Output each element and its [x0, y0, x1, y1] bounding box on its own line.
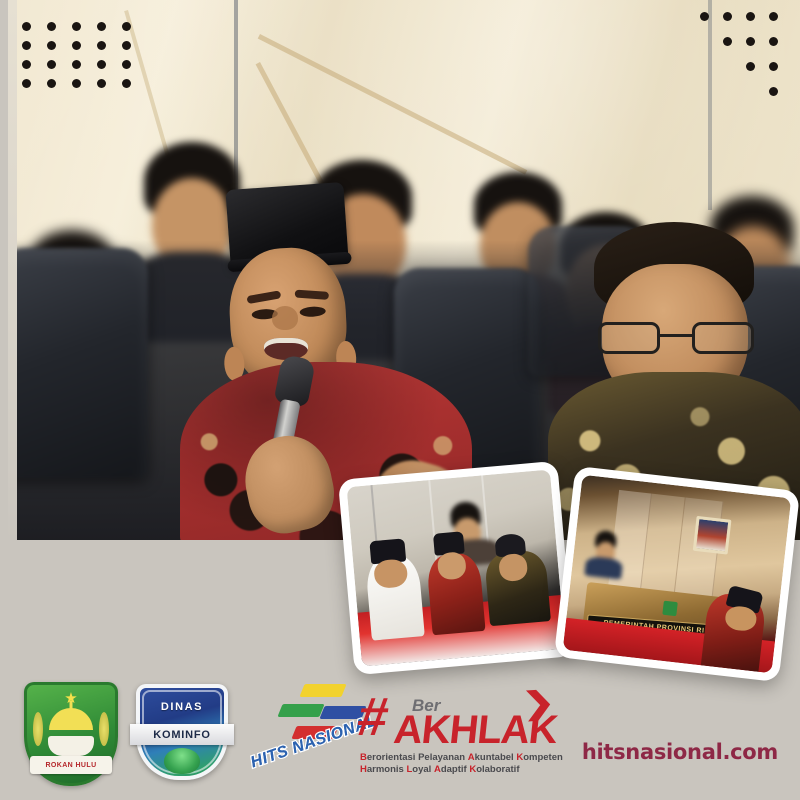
decor-dot	[746, 37, 755, 46]
decor-dot	[97, 22, 106, 31]
inset-photo-left[interactable]	[338, 461, 574, 675]
top-right-dot-grid	[700, 12, 790, 122]
decor-dot	[47, 79, 56, 88]
decor-dot	[22, 79, 31, 88]
decor-dot	[769, 87, 778, 96]
decor-dot	[122, 22, 131, 31]
decor-dot	[746, 12, 755, 21]
hits-nasional-logo: HITS NASIONAL HITS NASIONAL	[252, 684, 370, 780]
book-icon	[48, 736, 94, 756]
decor-dot	[22, 22, 31, 31]
kominfo-banner: KOMINFO	[130, 724, 234, 745]
decor-dot	[769, 37, 778, 46]
speaker-nose	[272, 306, 298, 330]
podium-crest	[662, 601, 678, 617]
eyeglasses-icon	[598, 322, 754, 356]
decor-dot	[97, 79, 106, 88]
decor-dot	[72, 41, 81, 50]
rokan-hulu-crest: ★ ROKAN HULU	[24, 682, 118, 786]
decor-dot	[746, 62, 755, 71]
decor-dot	[72, 22, 81, 31]
wall-portrait	[692, 516, 731, 555]
globe-icon	[164, 748, 200, 774]
decor-dot	[47, 60, 56, 69]
decor-dot	[22, 41, 31, 50]
crest-ribbon-text: ROKAN HULU	[45, 762, 96, 769]
poster-canvas: PEMERINTAH PROVINSI RI ★ ROKAN HULU DINA	[0, 0, 800, 800]
decor-dot	[769, 62, 778, 71]
crest-ribbon: ROKAN HULU	[30, 756, 112, 774]
decor-dot	[723, 12, 732, 21]
decor-dot	[122, 79, 131, 88]
decor-dot	[97, 60, 106, 69]
ber-akhlak-logo: # ❯ Ber AKHLAK Berorientasi Pelayanan Ak…	[358, 686, 588, 782]
decor-dot	[122, 60, 131, 69]
hash-icon: #	[354, 690, 392, 744]
decor-dot	[122, 41, 131, 50]
akhlak-subtitle-line1: Berorientasi Pelayanan Akuntabel Kompete…	[360, 752, 563, 763]
inset-attendee	[584, 529, 627, 579]
inset-left-image	[347, 469, 566, 666]
decor-dot	[97, 41, 106, 50]
decor-dot	[22, 60, 31, 69]
top-left-dot-grid	[22, 22, 142, 92]
decor-dot	[47, 41, 56, 50]
inset-photo-right[interactable]: PEMERINTAH PROVINSI RI	[554, 466, 800, 682]
logo-bar: ★ ROKAN HULU DINAS KOMINFO	[0, 670, 800, 800]
decor-dot	[723, 37, 732, 46]
dinas-kominfo-logo: DINAS KOMINFO	[130, 684, 234, 784]
decor-dot	[47, 22, 56, 31]
decor-dot	[769, 12, 778, 21]
inset-right-image: PEMERINTAH PROVINSI RI	[563, 475, 792, 674]
decor-dot	[72, 79, 81, 88]
chair	[8, 248, 148, 478]
website-url[interactable]: hitsnasional.com	[582, 740, 778, 764]
decor-dot	[72, 60, 81, 69]
photo-left-edge	[8, 0, 17, 540]
decor-dot	[700, 12, 709, 21]
kominfo-banner-text: KOMINFO	[153, 729, 211, 741]
akhlak-main-text: AKHLAK	[392, 710, 559, 750]
kominfo-top-text: DINAS	[130, 701, 234, 713]
akhlak-subtitle-line2: Harmonis Loyal Adaptif Kolaboratif	[360, 764, 519, 775]
